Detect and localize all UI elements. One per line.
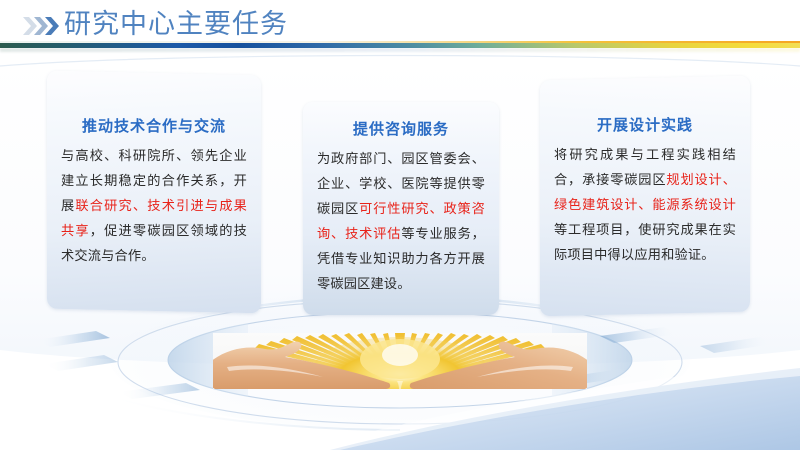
card-tech-cooperation[interactable]: 推动技术合作与交流 与高校、科研院所、领先企业建立长期稳定的合作关系，开展联合研… bbox=[47, 71, 261, 314]
card-consulting-service[interactable]: 提供咨询服务 为政府部门、园区管委会、企业、学校、医院等提供零碳园区可行性研究、… bbox=[303, 102, 499, 315]
card-body: 将研究成果与工程实践相结合，承接零碳园区规划设计、绿色建筑设计、能源系统设计等工… bbox=[554, 135, 736, 267]
card-body: 与高校、科研院所、领先企业建立长期稳定的合作关系，开展联合研究、技术引进与成果共… bbox=[61, 136, 247, 268]
card-title: 提供咨询服务 bbox=[317, 102, 485, 139]
page-title: 研究中心主要任务 bbox=[64, 7, 288, 41]
card-title: 开展设计实践 bbox=[554, 78, 736, 135]
card-design-practice[interactable]: 开展设计实践 将研究成果与工程实践相结合，承接零碳园区规划设计、绿色建筑设计、能… bbox=[540, 76, 750, 317]
double-chevron-right-icon bbox=[22, 14, 60, 38]
slide-canvas: 研究中心主要任务 推动技术合作与交流 与高校、科研院所、领先企业建立长期稳定的合… bbox=[0, 0, 800, 450]
hands-holding-sunburst-illustration bbox=[213, 333, 587, 389]
body-text: 等工程项目，使研究成果在实际项目中得以应用和验证。 bbox=[554, 222, 736, 262]
card-title: 推动技术合作与交流 bbox=[61, 73, 247, 136]
header-rule-shadow bbox=[0, 48, 800, 52]
card-body: 为政府部门、园区管委会、企业、学校、医院等提供零碳园区可行性研究、政策咨询、技术… bbox=[317, 139, 485, 296]
body-text: ，促进零碳园区领域的技术交流与合作。 bbox=[61, 223, 247, 263]
slide-header: 研究中心主要任务 bbox=[0, 0, 800, 52]
